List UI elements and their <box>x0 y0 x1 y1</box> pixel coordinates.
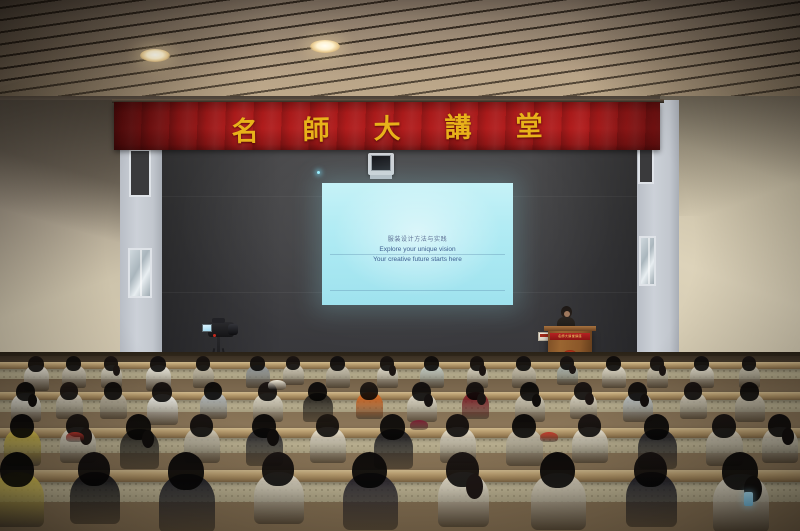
audience-member-head <box>104 382 122 400</box>
audience-member-head <box>28 356 44 372</box>
audience-member-head <box>78 452 110 486</box>
audience-member-head <box>352 452 387 488</box>
audience-member-head <box>446 414 469 437</box>
audience-member-head <box>262 452 294 486</box>
audience-member-head <box>316 414 339 437</box>
ceiling-downlight <box>310 40 340 53</box>
audience-member-head <box>740 382 759 401</box>
ceiling-downlight <box>140 49 170 62</box>
pillar-window-lower <box>128 248 152 298</box>
maroon-cap-icon <box>410 420 428 430</box>
audience-member-head <box>308 382 327 401</box>
camera-handle <box>212 318 225 323</box>
ceiling-shadow-right <box>528 0 800 108</box>
slide-title-cn: 服装设计方法与实践 <box>322 234 513 243</box>
pillar-window-lower <box>639 236 656 286</box>
audience-member-head <box>66 356 81 371</box>
audience-member-ponytail <box>479 365 486 375</box>
desk-row <box>0 362 800 369</box>
phone-screen <box>744 492 753 506</box>
seat-back-row <box>0 482 800 502</box>
projector-lens <box>371 155 391 171</box>
audience-member-ponytail <box>113 365 120 375</box>
audience-member-head <box>150 356 166 372</box>
banner-char-4: 講 <box>444 105 472 144</box>
camera-record-light <box>213 334 216 337</box>
red-event-banner: 名 師 大 講 堂 <box>114 102 660 150</box>
audience-member-ponytail <box>782 428 794 444</box>
banner-shadow-right <box>584 102 660 150</box>
lecture-hall-photo: 名 師 大 講 堂 服装设计方法与实践 Explore your unique … <box>0 0 800 531</box>
audience-member-head <box>0 452 34 487</box>
audience-member-head <box>644 414 669 440</box>
audience-member-head <box>512 414 536 438</box>
audience-member-ponytail <box>569 365 576 375</box>
camera-lcd-screen <box>202 324 212 332</box>
right-wall-shadow <box>660 96 800 216</box>
slide-line-2: Your creative future starts here <box>322 255 513 264</box>
audience-member-head <box>684 382 702 400</box>
banner-shadow-left <box>114 102 234 150</box>
audience-member-ponytail <box>659 365 666 375</box>
lectern-plaque-text: 名師大講堂講座 <box>550 333 590 340</box>
slide-line-1: Explore your unique vision <box>322 245 513 254</box>
audience-member-head <box>286 356 300 370</box>
audience-member-head <box>424 356 439 371</box>
lectern-plaque: 名師大講堂講座 <box>550 333 590 340</box>
audience-member-head <box>578 414 601 437</box>
audience-member-head <box>606 356 621 371</box>
seated-audience <box>0 352 800 531</box>
red-cap-right-icon <box>540 432 558 442</box>
pillar-window-upper <box>129 149 151 197</box>
projector-bracket <box>370 175 392 179</box>
banner-char-2: 師 <box>302 108 330 147</box>
audience-member-head <box>360 382 378 400</box>
desk-row <box>0 470 800 482</box>
audience-member-head <box>380 414 405 440</box>
ceiling-projector-unit <box>368 153 394 175</box>
red-cap-icon <box>66 432 84 442</box>
audience-member-ponytail <box>389 365 396 375</box>
right-wall <box>660 96 800 396</box>
audience-member-ponytail <box>142 430 155 448</box>
audience-member-head <box>330 356 345 371</box>
presenter-face <box>564 311 570 317</box>
camera-lens <box>228 324 238 335</box>
projection-screen: 服装设计方法与实践 Explore your unique vision You… <box>322 183 513 305</box>
audience-member-head <box>10 414 34 438</box>
wall-led-indicator <box>317 171 320 174</box>
banner-char-3: 大 <box>373 106 401 145</box>
wood-slat-ceiling <box>0 0 800 108</box>
audience-member-head <box>634 452 667 487</box>
audience-member-head <box>204 382 222 400</box>
window-mullion <box>648 238 650 284</box>
audience-member-head <box>540 452 575 488</box>
audience-member-head <box>516 356 531 371</box>
lectern-top <box>544 326 596 331</box>
row-shadow <box>0 352 800 356</box>
audience-member-head <box>712 414 736 438</box>
audience-member-head <box>694 356 709 371</box>
slide-content: 服装设计方法与实践 Explore your unique vision You… <box>322 234 513 264</box>
window-mullion <box>140 250 142 296</box>
banner-char-5: 堂 <box>515 104 543 143</box>
audience-member-head <box>190 414 213 437</box>
seat-perforation <box>0 482 800 502</box>
audience-member-head <box>250 356 265 371</box>
audience-member-head <box>152 382 172 402</box>
audience-member-head <box>60 382 78 400</box>
audience-member-head <box>742 356 756 371</box>
white-bucket-hat-icon <box>268 380 286 390</box>
audience-member-head <box>168 452 204 490</box>
audience-member-ponytail <box>466 474 483 499</box>
screen-seam <box>330 290 506 291</box>
banner-char-1: 名 <box>231 109 259 148</box>
audience-member-head <box>196 356 210 371</box>
